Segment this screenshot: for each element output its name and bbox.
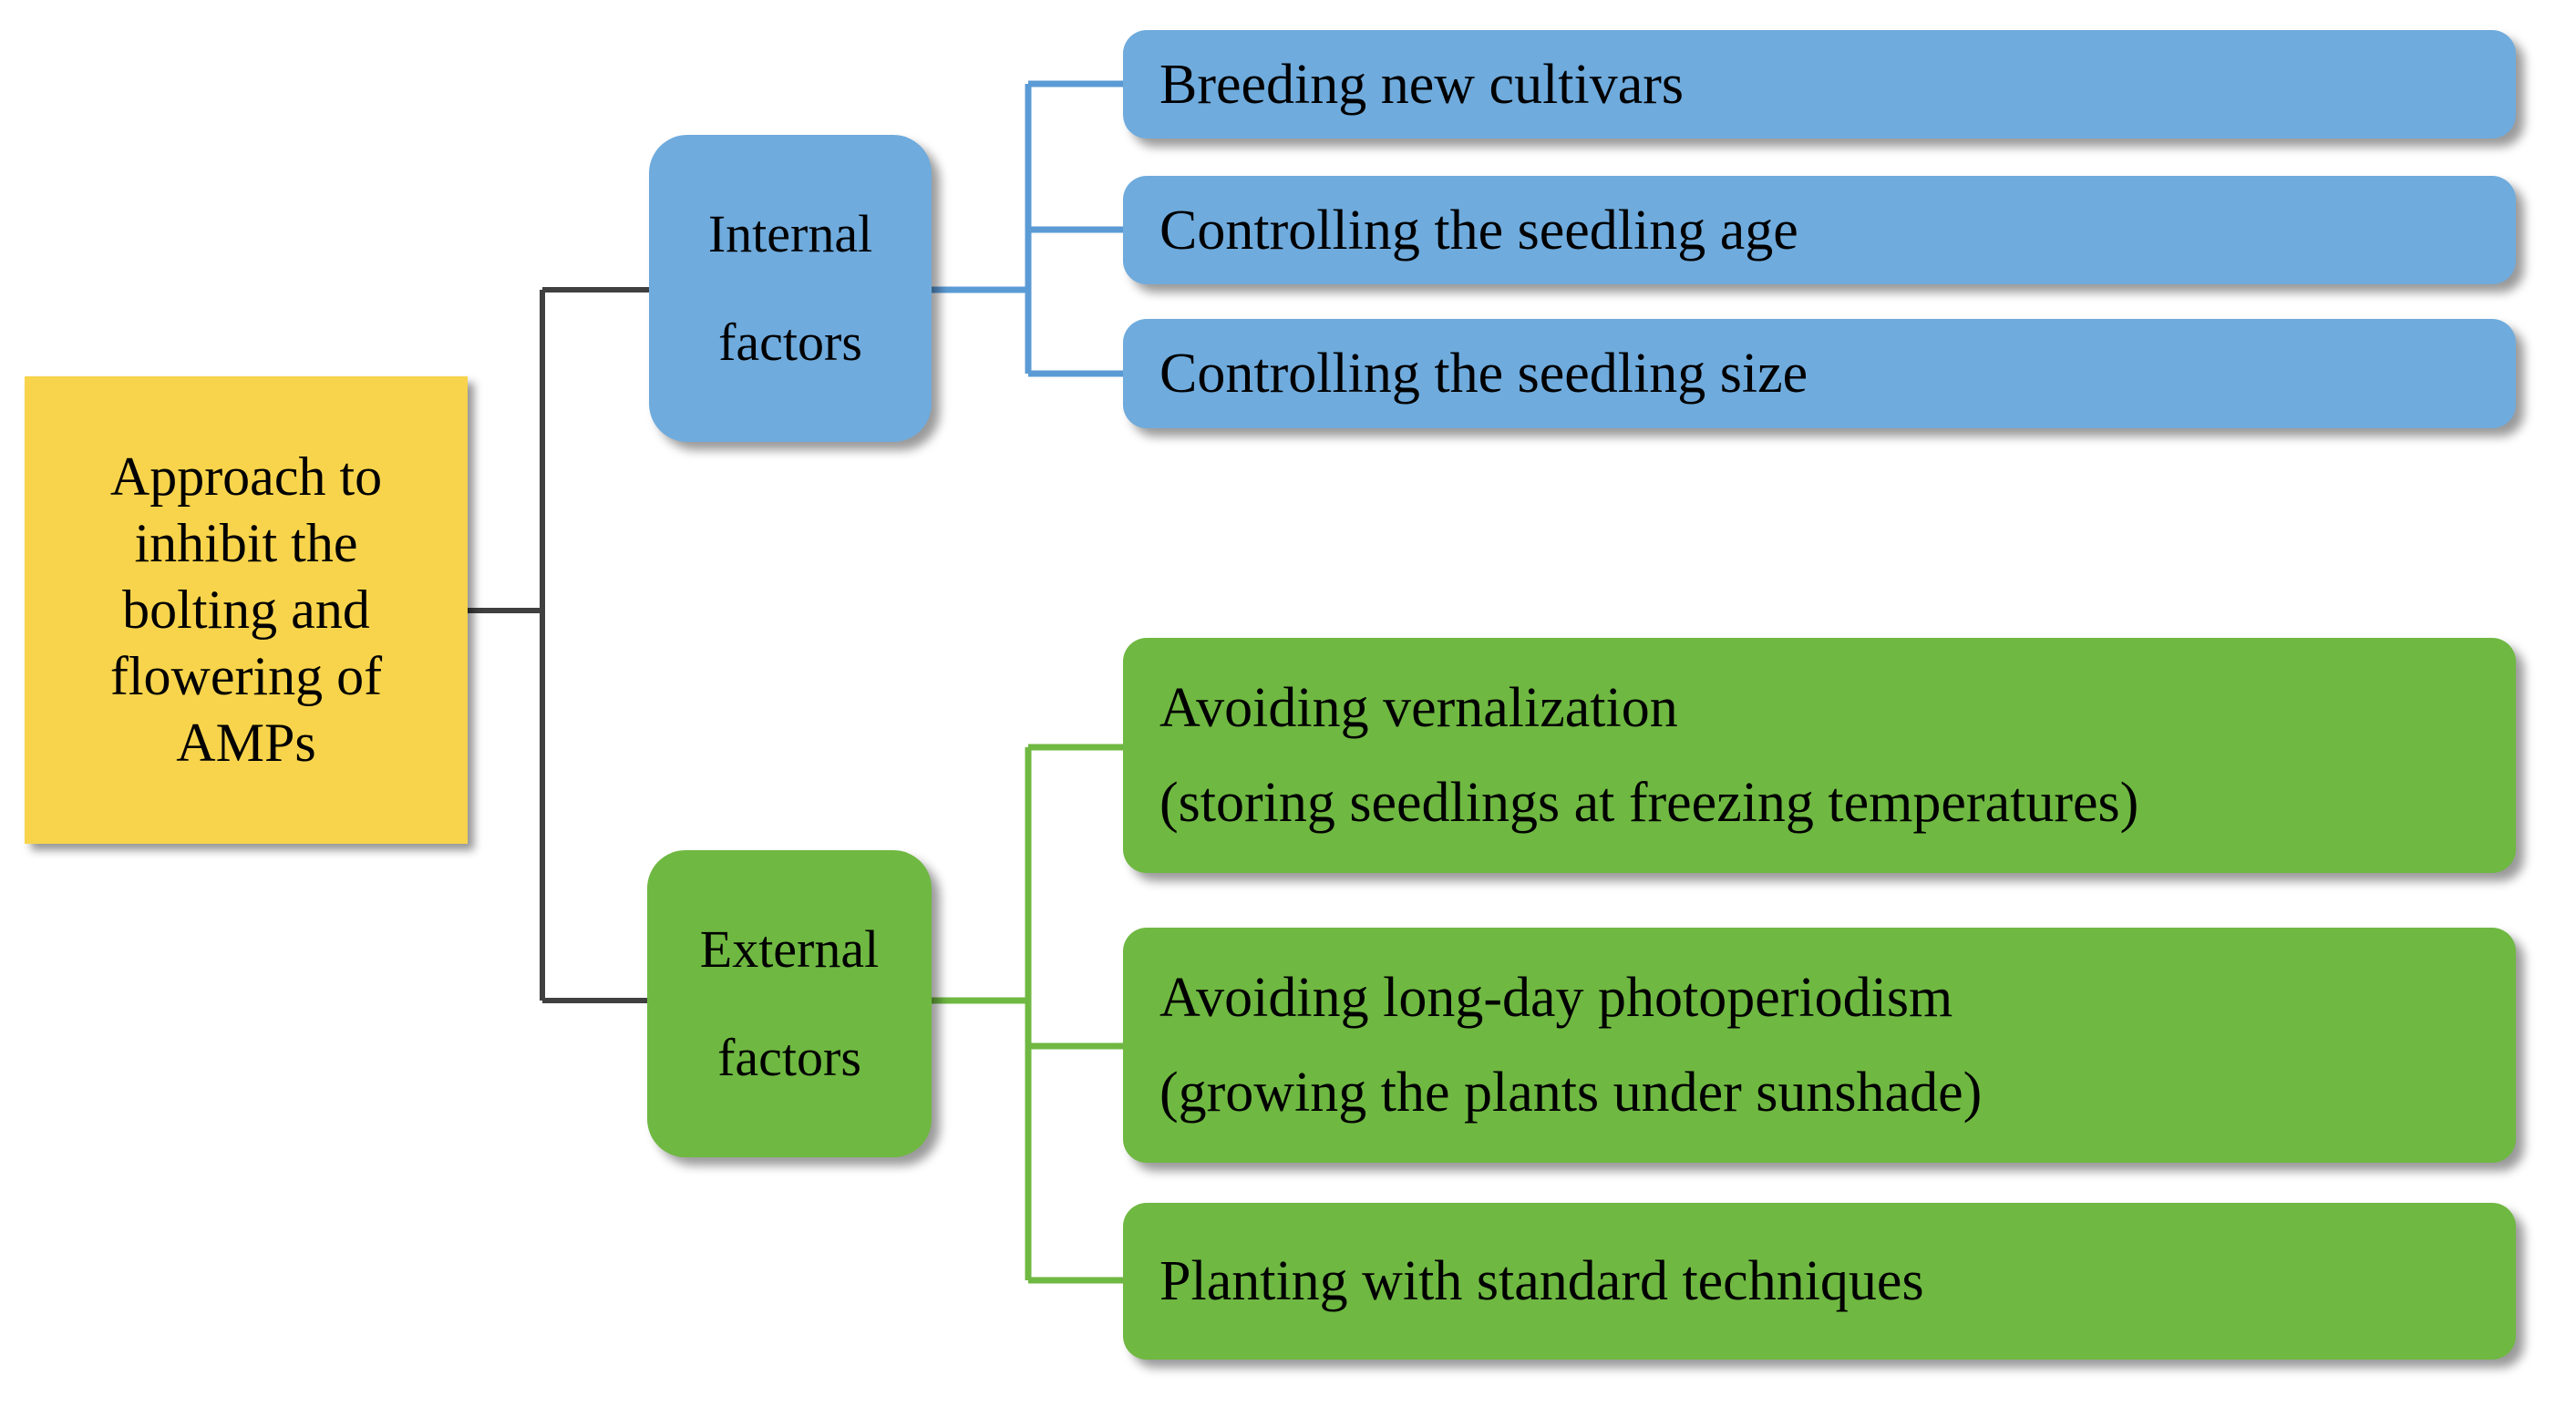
leaf-node-controlling-seedling-size[interactable]: Controlling the seedling size [1123, 319, 2516, 428]
leaf-node-avoiding-vernalization-line-2: (storing seedlings at freezing temperatu… [1159, 775, 2138, 831]
root-node-line-5: AMPs [176, 710, 315, 776]
leaf-node-planting-with-standard-techniques[interactable]: Planting with standard techniques [1123, 1203, 2516, 1360]
root-node-line-4: flowering of [110, 643, 382, 710]
branch-node-internal-label-line-1: Internal [708, 180, 872, 289]
leaf-node-controlling-seedling-age[interactable]: Controlling the seedling age [1123, 176, 2516, 284]
branch-node-internal-factors[interactable]: Internal factors [649, 135, 932, 442]
branch-node-external-factors[interactable]: External factors [647, 850, 932, 1157]
leaf-node-breeding-new-cultivars-line-1: Breeding new cultivars [1159, 56, 1684, 113]
leaf-node-avoiding-long-day-photoperiodism[interactable]: Avoiding long-day photoperiodism (growin… [1123, 928, 2516, 1163]
branch-node-external-label-line-2: factors [717, 1004, 861, 1113]
leaf-node-breeding-new-cultivars[interactable]: Breeding new cultivars [1123, 30, 2516, 139]
branch-node-internal-label-line-2: factors [718, 289, 862, 397]
root-node[interactable]: Approach to inhibit the bolting and flow… [25, 376, 468, 844]
internal-connector-group [932, 84, 1123, 374]
root-node-line-3: bolting and [122, 577, 370, 643]
branch-node-external-label-line-1: External [700, 896, 879, 1004]
root-node-line-1: Approach to [110, 444, 382, 510]
leaf-node-avoiding-long-day-photoperiodism-line-2: (growing the plants under sunshade) [1159, 1064, 1982, 1121]
leaf-node-controlling-seedling-size-line-1: Controlling the seedling size [1159, 345, 1808, 402]
leaf-node-avoiding-vernalization-line-1: Avoiding vernalization [1159, 680, 1678, 736]
leaf-node-planting-with-standard-techniques-line-1: Planting with standard techniques [1159, 1253, 1924, 1309]
diagram-canvas: Approach to inhibit the bolting and flow… [0, 0, 2576, 1427]
root-node-line-2: inhibit the [135, 510, 358, 577]
leaf-node-avoiding-long-day-photoperiodism-line-1: Avoiding long-day photoperiodism [1159, 970, 1953, 1026]
root-connector-group [468, 290, 649, 1001]
external-connector-group [932, 747, 1123, 1280]
leaf-node-avoiding-vernalization[interactable]: Avoiding vernalization (storing seedling… [1123, 638, 2516, 873]
leaf-node-controlling-seedling-age-line-1: Controlling the seedling age [1159, 202, 1798, 259]
